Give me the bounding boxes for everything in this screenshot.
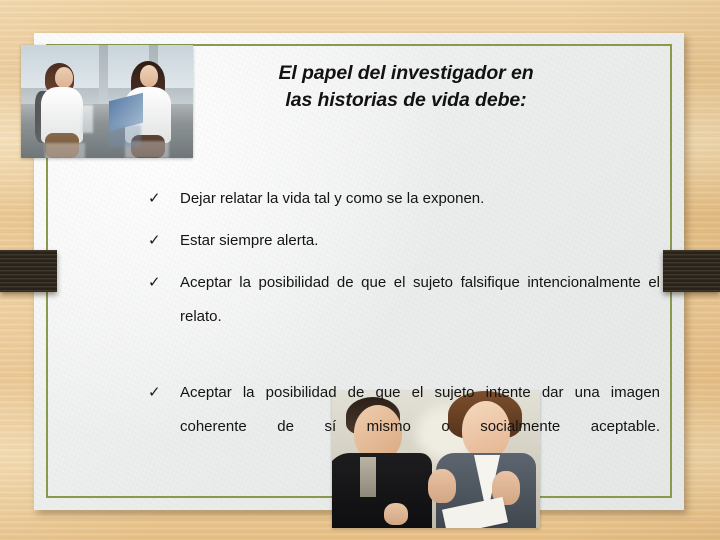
bullet-text: Estar siempre alerta.	[180, 224, 660, 258]
check-icon: ✓	[148, 182, 168, 216]
bullet-item-1: ✓ Dejar relatar la vida tal y como se la…	[148, 182, 660, 216]
check-icon: ✓	[148, 224, 168, 258]
photo-bottle	[81, 105, 93, 133]
interview-photo	[21, 45, 193, 158]
bullet-text: Dejar relatar la vida tal y como se la e…	[180, 182, 660, 216]
photo-reflection	[45, 143, 85, 158]
photo-window-pillar	[99, 45, 108, 104]
bullet-item-4: ✓ Aceptar la posibilidad de que el sujet…	[148, 376, 660, 478]
photo-reflection	[109, 125, 141, 147]
decorative-crossbar-right	[663, 250, 720, 292]
check-icon: ✓	[148, 376, 168, 410]
slide-canvas: El papel del investigador en las histori…	[0, 0, 720, 540]
photo-person-head	[55, 67, 73, 88]
photo-person-hand	[384, 503, 408, 525]
title-line-2: las historias de vida debe:	[196, 87, 616, 114]
decorative-crossbar-left	[0, 250, 57, 292]
bullet-text: Aceptar la posibilidad de que el sujeto …	[180, 376, 660, 478]
bullet-text: Aceptar la posibilidad de que el sujeto …	[180, 266, 660, 368]
bullet-list: ✓ Dejar relatar la vida tal y como se la…	[148, 182, 660, 486]
photo-person-head	[140, 65, 158, 87]
bullet-item-2: ✓ Estar siempre alerta.	[148, 224, 660, 258]
bullet-item-3: ✓ Aceptar la posibilidad de que el sujet…	[148, 266, 660, 368]
title-line-1: El papel del investigador en	[196, 60, 616, 87]
check-icon: ✓	[148, 266, 168, 300]
slide-title: El papel del investigador en las histori…	[196, 60, 616, 114]
